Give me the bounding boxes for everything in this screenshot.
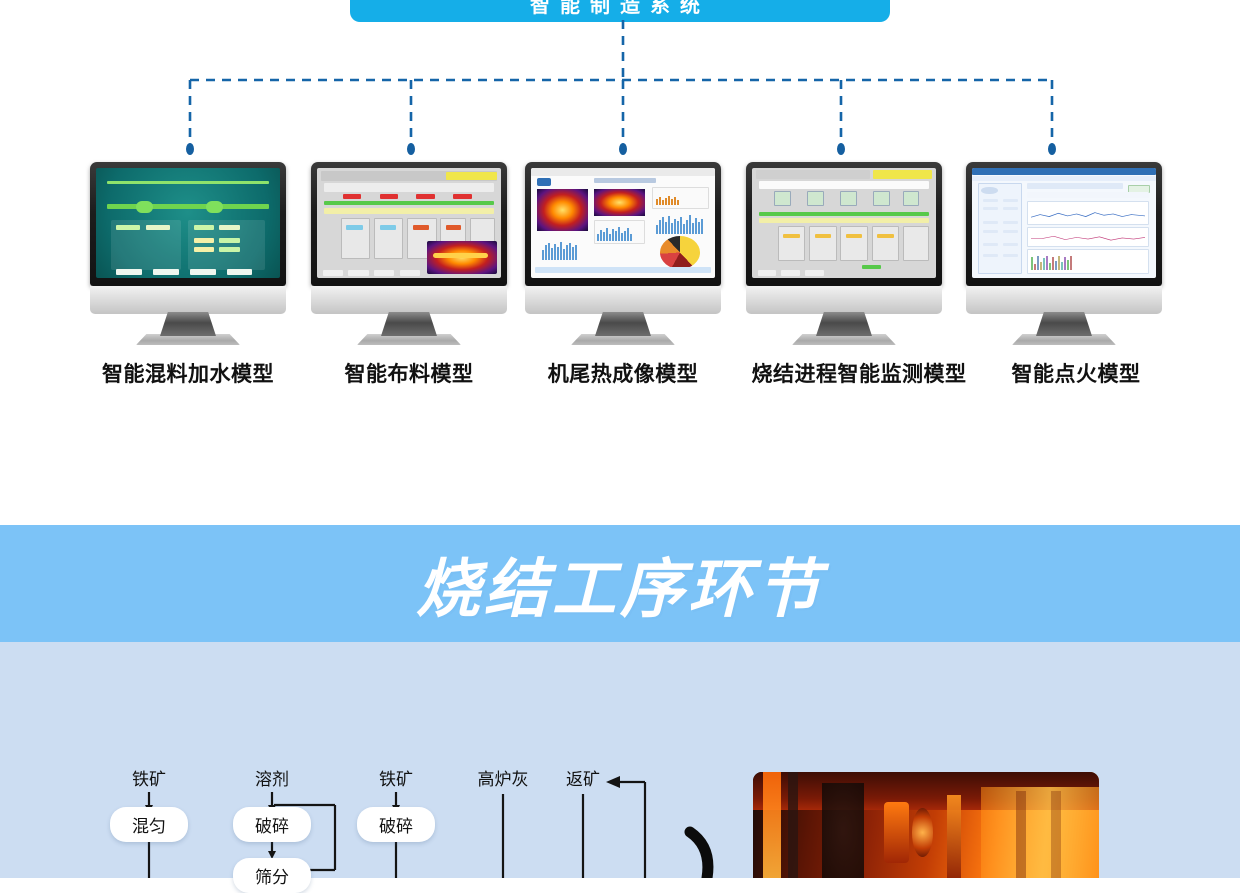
model-label-5: 智能点火模型: [966, 358, 1186, 388]
flow-column-5: 返矿: [546, 642, 620, 788]
furnace-photo: [753, 772, 1099, 878]
flow-node-3-1[interactable]: 破碎: [357, 807, 435, 842]
monitor-3-bezel: [525, 162, 721, 286]
monitor-4-screen: [752, 168, 936, 278]
flow-head-5: 返矿: [546, 771, 620, 788]
monitor-5-screen: [972, 168, 1156, 278]
section-banner: 烧结工序环节: [0, 525, 1240, 642]
monitor-2-base: [357, 334, 461, 345]
flow-node-1-1[interactable]: 混匀: [110, 807, 188, 842]
monitor-3[interactable]: [525, 162, 721, 314]
monitor-3-base: [571, 334, 675, 345]
monitor-4-bezel: [746, 162, 942, 286]
monitor-2-screen: [317, 168, 501, 278]
model-label-1: 智能混料加水模型: [90, 358, 286, 388]
monitor-5-neck: [966, 286, 1162, 314]
flow-column-4: 高炉灰: [459, 642, 547, 788]
flow-node-2-1[interactable]: 破碎: [233, 807, 311, 842]
flow-column-1: 铁矿 混匀: [110, 642, 188, 842]
monitor-5[interactable]: [966, 162, 1162, 314]
model-label-4: 烧结进程智能监测模型: [723, 358, 995, 388]
model-label-3: 机尾热成像模型: [525, 358, 721, 388]
monitor-1-bezel: [90, 162, 286, 286]
monitor-5-base: [1012, 334, 1116, 345]
monitor-4-base: [792, 334, 896, 345]
monitor-2-bezel: [311, 162, 507, 286]
monitor-3-neck: [525, 286, 721, 314]
monitor-4-neck: [746, 286, 942, 314]
monitor-4[interactable]: [746, 162, 942, 314]
section-title: 烧结工序环节: [416, 538, 824, 630]
flow-column-3: 铁矿 破碎: [357, 642, 435, 842]
model-labels: 智能混料加水模型 智能布料模型 机尾热成像模型 烧结进程智能监测模型 智能点火模…: [0, 358, 1240, 398]
flow-head-4: 高炉灰: [459, 771, 547, 788]
flow-head-3: 铁矿: [357, 771, 435, 788]
monitor-1[interactable]: [90, 162, 286, 314]
monitor-1-neck: [90, 286, 286, 314]
monitor-1-base: [136, 334, 240, 345]
flow-column-2: 溶剂 破碎 筛分: [233, 642, 311, 893]
flow-head-2: 溶剂: [233, 771, 311, 788]
model-label-2: 智能布料模型: [311, 358, 507, 388]
flow-diagram: 铁矿 混匀 溶剂 破碎 筛分 铁矿 破碎 高炉灰 返矿: [0, 642, 740, 878]
flow-node-2-2[interactable]: 筛分: [233, 858, 311, 893]
monitor-3-screen: [531, 168, 715, 278]
monitor-5-bezel: [966, 162, 1162, 286]
monitor-2-neck: [311, 286, 507, 314]
monitor-row: [0, 162, 1240, 342]
flow-head-1: 铁矿: [110, 771, 188, 788]
monitor-2[interactable]: [311, 162, 507, 314]
connector-lines: [0, 0, 1240, 170]
monitor-1-screen: [96, 168, 280, 278]
